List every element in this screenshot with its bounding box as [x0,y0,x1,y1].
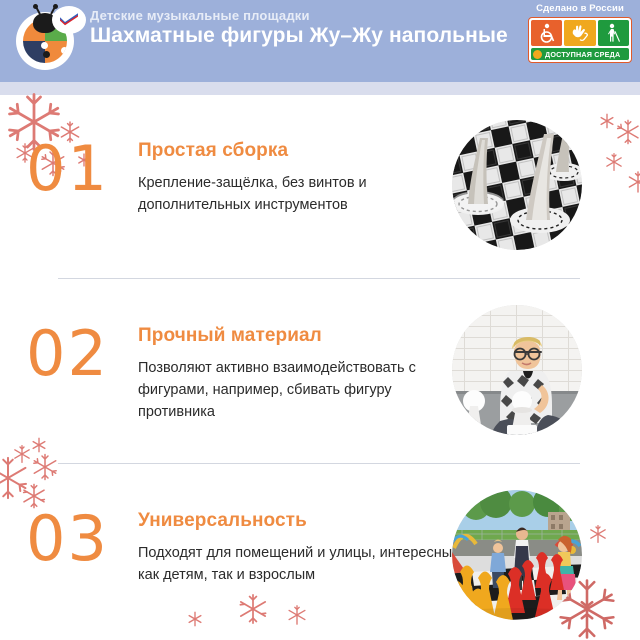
feature-number: 01 [26,138,109,200]
feature-title: Универсальность [138,510,307,532]
feature-body: Позволяют активно взаимодействовать с фи… [138,357,458,423]
ladybug-antenna-tip-left [33,4,38,9]
feature-title: Прочный материал [138,325,322,347]
infographic-page: Детские музыкальные площадки Шахматные ф… [0,0,640,640]
header-subtitle: Детские музыкальные площадки [90,8,310,23]
chessboard-white-pieces-photo [452,120,582,250]
feature-number: 03 [26,508,109,570]
section-divider [58,463,580,464]
ladybug-logo-icon [12,4,86,72]
boy-with-chess-pieces-photo [452,305,582,435]
sign-language-icon [564,20,595,46]
page-title: Шахматные фигуры Жу–Жу напольные [90,24,520,48]
accessibility-badge: ДОСТУПНАЯ СРЕДА [528,17,632,63]
accessible-environment-label: ДОСТУПНАЯ СРЕДА [545,50,620,59]
accessibility-mark-icon [533,50,542,59]
wheelchair-icon [531,20,562,46]
made-in-russia-caption: Сделано в России [528,3,632,15]
feature-number: 02 [26,323,109,385]
ladybug-white-dot-2 [61,47,67,54]
ladybug-white-dot-1 [41,42,48,49]
header-bottom-band [0,82,640,95]
russian-flag-check-icon [59,12,79,26]
ladybug-spot-2 [59,57,66,63]
feature-body: Крепление-защёлка, без винтов и дополнит… [138,172,458,216]
feature-section-01: 01 Простая сборка Крепление-защёлка, без… [0,110,640,280]
feature-body: Подходят для помещений и улицы, интересн… [138,542,458,586]
section-divider [58,278,580,279]
page-header: Детские музыкальные площадки Шахматные ф… [0,0,640,82]
made-in-russia-badge: Сделано в России [528,3,632,63]
outdoor-giant-chess-photo [452,490,582,620]
feature-section-02: 02 Прочный материал Позволяют активно вз… [0,295,640,465]
accessibility-tiles [531,20,629,46]
feature-section-03: 03 Универсальность Подходят для помещени… [0,480,640,640]
feature-title: Простая сборка [138,140,288,162]
blind-cane-icon [598,20,629,46]
ladybug-spot-1 [43,51,50,58]
accessible-environment-bar: ДОСТУПНАЯ СРЕДА [531,48,629,60]
